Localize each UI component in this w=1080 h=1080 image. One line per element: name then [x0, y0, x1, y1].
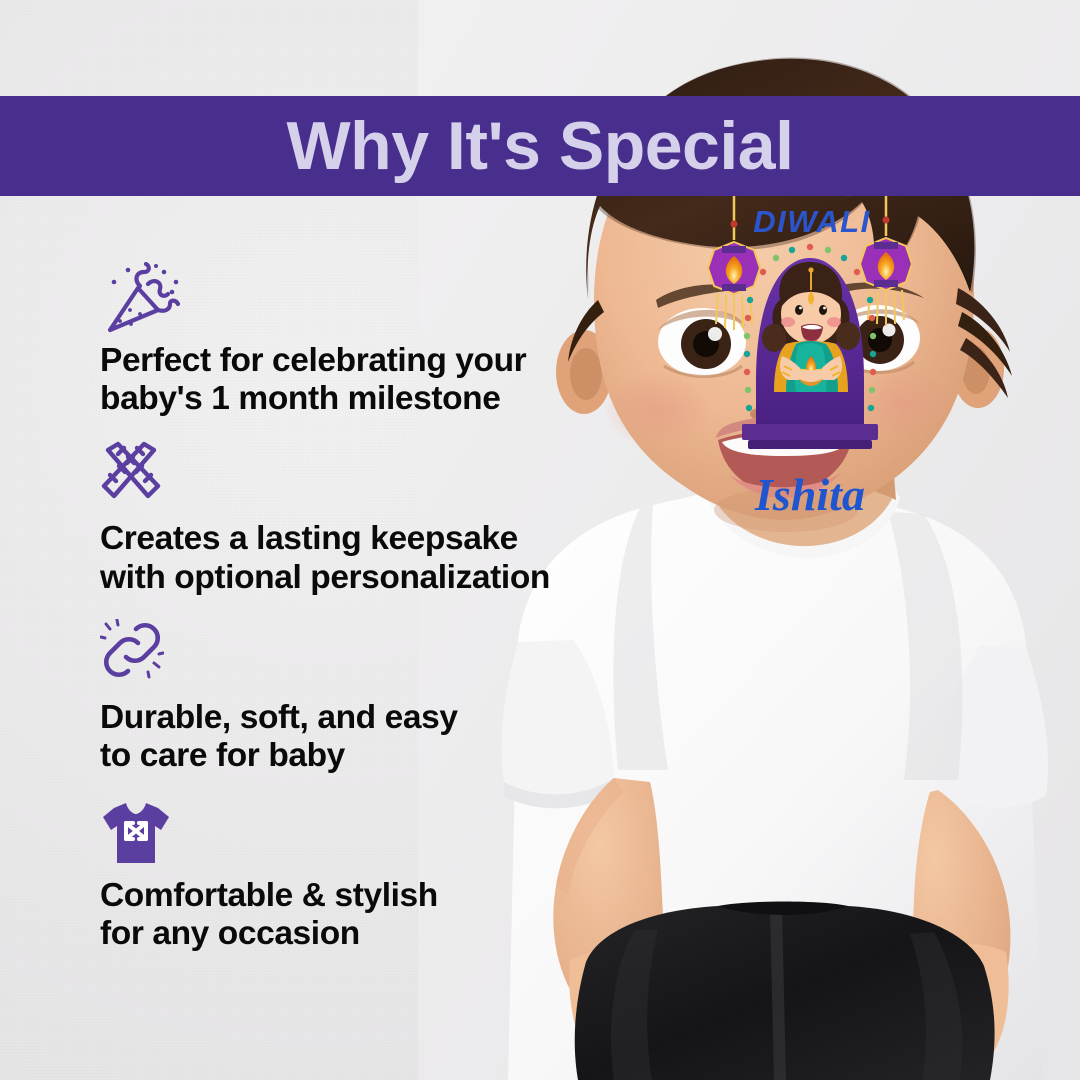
feature-item-milestone: Perfect for celebrating your baby's 1 mo… [100, 262, 620, 418]
promo-graphic: MY FIRST DIWALI Ishita Why It's Special [0, 0, 1080, 1080]
section-banner: Why It's Special [0, 96, 1080, 196]
feature-label: Durable, soft, and easy to care for baby [100, 699, 620, 775]
feature-item-keepsake: Creates a lasting keepsake with optional… [100, 440, 620, 596]
feature-label: Comfortable & stylish for any occasion [100, 877, 620, 953]
party-popper-icon [100, 262, 620, 340]
shirt-print-line2: DIWALI [753, 204, 871, 239]
shirt-print-name: Ishita [754, 469, 865, 520]
chain-link-sparkle-icon [100, 619, 620, 697]
page-title: Why It's Special [287, 112, 794, 180]
tshirt-arrows-icon [100, 797, 620, 875]
feature-item-comfortable: Comfortable & stylish for any occasion [100, 797, 620, 953]
feature-label: Perfect for celebrating your baby's 1 mo… [100, 342, 620, 418]
ruler-pencil-icon [100, 440, 620, 518]
feature-list: Perfect for celebrating your baby's 1 mo… [100, 262, 620, 976]
feature-label: Creates a lasting keepsake with optional… [100, 520, 620, 596]
feature-item-durable: Durable, soft, and easy to care for baby [100, 619, 620, 775]
